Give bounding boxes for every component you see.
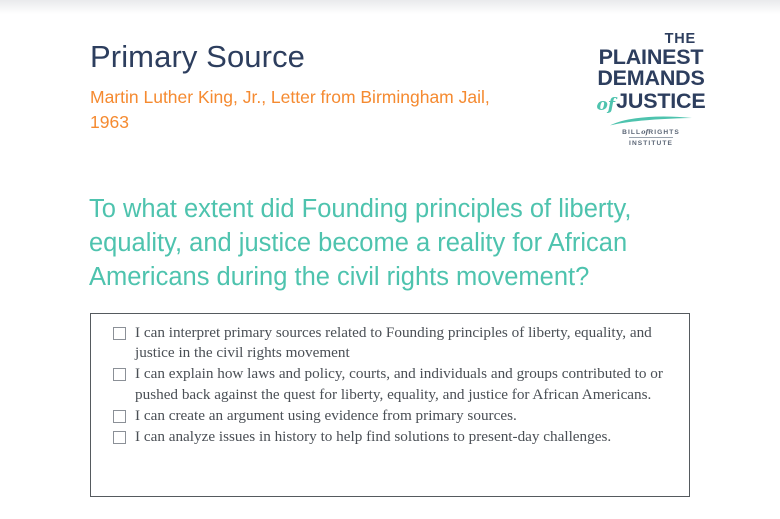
objective-label: I can create an argument using evidence … <box>135 406 675 426</box>
objective-label: I can interpret primary sources related … <box>135 323 675 363</box>
logo-institute-line2: INSTITUTE <box>592 137 710 149</box>
logo-institute-rights: RIGHTS <box>648 129 680 136</box>
logo-line-justice-row: of JUSTICE <box>592 91 710 113</box>
objective-label: I can analyze issues in history to help … <box>135 427 675 447</box>
logo-line-plainest: PLAINEST <box>592 47 710 69</box>
list-item: I can interpret primary sources related … <box>113 323 675 363</box>
list-item: I can create an argument using evidence … <box>113 406 675 426</box>
logo-word-justice: JUSTICE <box>616 91 705 113</box>
swoosh-underline-icon <box>608 114 694 127</box>
page-title: Primary Source <box>90 40 560 74</box>
empty-checkbox-icon[interactable] <box>113 368 126 381</box>
logo-institute-bill: BILL <box>622 129 641 136</box>
page-subtitle: Martin Luther King, Jr., Letter from Bir… <box>90 85 520 136</box>
logo-institute-line1: BILLofRIGHTS <box>592 128 710 138</box>
logo-institute-name: BILLofRIGHTS INSTITUTE <box>592 128 710 149</box>
organization-logo: THE PLAINEST DEMANDS of JUSTICE BILLofRI… <box>592 32 710 149</box>
logo-institute-institute: INSTITUTE <box>629 137 673 149</box>
empty-checkbox-icon[interactable] <box>113 410 126 423</box>
learning-objectives-box: I can interpret primary sources related … <box>90 313 690 497</box>
objective-label: I can explain how laws and policy, court… <box>135 364 675 404</box>
logo-line-demands: DEMANDS <box>592 68 710 90</box>
essential-question: To what extent did Founding principles o… <box>89 193 689 295</box>
slide-header: Primary Source Martin Luther King, Jr., … <box>90 40 560 136</box>
empty-checkbox-icon[interactable] <box>113 431 126 444</box>
list-item: I can explain how laws and policy, court… <box>113 364 675 404</box>
slide-canvas: Primary Source Martin Luther King, Jr., … <box>0 0 780 519</box>
logo-word-of: of <box>596 97 615 114</box>
list-item: I can analyze issues in history to help … <box>113 427 675 447</box>
empty-checkbox-icon[interactable] <box>113 327 126 340</box>
